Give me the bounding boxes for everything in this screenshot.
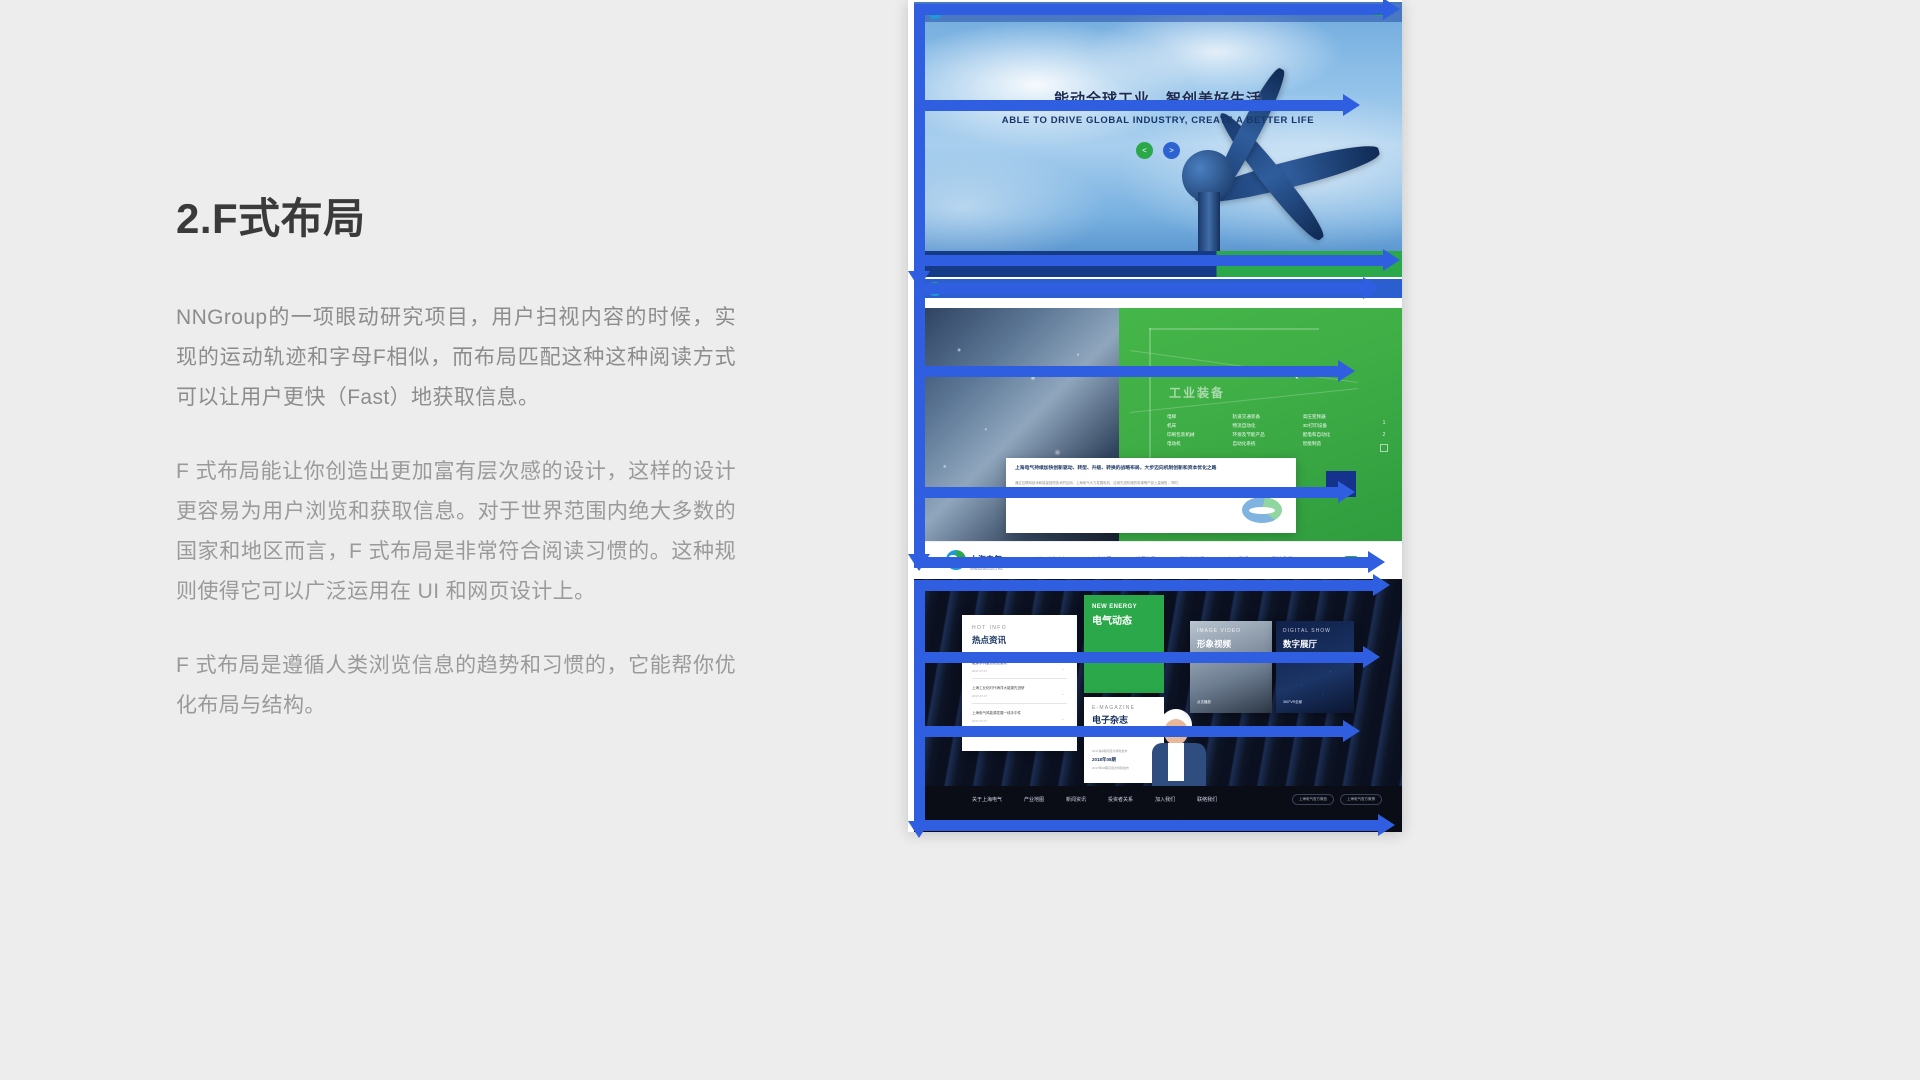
explore-arrow-button[interactable]: → xyxy=(1326,471,1356,497)
product-category-columns: 电梯 机床 印刷包装机械 电动机 轨道交通装备 物流自动化 环保及节能产品 自动… xyxy=(1167,412,1330,448)
nav-item-5[interactable]: 联络我们 xyxy=(1221,8,1243,16)
footer-lang-en[interactable]: EN xyxy=(1364,557,1370,562)
category-item[interactable]: 印刷包装机械 xyxy=(1167,430,1195,439)
news-list-item[interactable]: 上海工业化时代海洋大能源先进研 2017-07-17 → xyxy=(972,678,1067,703)
shanghai-electric-logo-icon xyxy=(946,550,966,570)
digital-show-card[interactable]: DIGITAL SHOW 数字展厅 360°VR全景 xyxy=(1276,621,1354,713)
language-badge[interactable]: 中文 xyxy=(1371,8,1388,16)
carousel-next-icon[interactable]: > xyxy=(1163,142,1180,159)
site-header: 上海电气 关于上海电气 产业地图 新闻资讯 投资者关系 加入我们 联络我们 中文 xyxy=(914,2,1402,22)
emagazine-issue: 2018年08期 xyxy=(1092,757,1156,763)
p3-footer-link-0[interactable]: 关于上海电气 xyxy=(972,796,1002,803)
news-arrow-icon[interactable]: → xyxy=(1060,716,1065,722)
category-item[interactable]: 3D打印设备 xyxy=(1303,421,1331,430)
pager-page-2[interactable]: 2 xyxy=(1383,432,1386,438)
article-paragraph-3: F 式布局是遵循人类浏览信息的趋势和习惯的，它能帮你优化布局与结构。 xyxy=(176,646,736,726)
news-list-item[interactable]: 能源学科重点院校奖项 2017-07-17 → xyxy=(972,653,1067,678)
footer-link-0[interactable]: 关于上海电气 xyxy=(930,260,957,266)
emagazine-line-1: 2017第8期高层次特辑发布 xyxy=(1092,748,1156,754)
products-footer-nav[interactable]: 关于上海电气 产业地图 新闻资讯 投资者关系 加入我们 联络我们 xyxy=(1037,556,1292,563)
image-video-card[interactable]: IMAGE VIDEO 形象视频 点击播放 xyxy=(1190,621,1272,713)
brand-watermark-icon xyxy=(1242,497,1282,523)
hot-info-label-cn: 热点资讯 xyxy=(972,634,1067,646)
p2-footer-link-0[interactable]: 关于上海电气 xyxy=(1037,556,1067,563)
section-title-cn: 工业装备 xyxy=(1169,384,1225,401)
news-footer: 关于上海电气 产业地图 新闻资讯 投资者关系 加入我们 联络我们 上海电气官方微… xyxy=(914,786,1402,832)
engineer-photo xyxy=(1150,701,1208,791)
p2-footer-link-4[interactable]: 加入我们 xyxy=(1228,556,1248,563)
nav-item-4[interactable]: 加入我们 xyxy=(1183,8,1205,16)
new-energy-label-cn: 电气动态 xyxy=(1092,612,1156,627)
new-energy-label-en: NEW ENERGY xyxy=(1092,604,1156,610)
highlight-card-title: 上海电气持续加快创新驱动、转型、升级、转换的战略布局，大步迈向机制创新和资本优化… xyxy=(1015,465,1287,473)
logo-text-cn: 上海电气 xyxy=(946,285,976,292)
carousel-controls[interactable]: < > xyxy=(914,142,1402,159)
footer-language-switch[interactable]: 中文 EN xyxy=(1343,556,1370,564)
highlight-card-body: 通过互联网技术和能量回馈技术的应用，上海电气大力发展电机、应用先进机械的电梯等产… xyxy=(1015,480,1184,492)
news-date: 2017-07-17 xyxy=(972,669,1067,673)
category-item[interactable]: 电梯 xyxy=(1167,412,1195,421)
news-title: 能源学科重点院校奖项 xyxy=(972,660,1067,666)
new-energy-body: 上海电气联合国家高速油机业务模式创新开启 xyxy=(1092,653,1156,659)
category-item[interactable]: 智能制造 xyxy=(1303,439,1331,448)
new-energy-card[interactable]: NEW ENERGY 电气动态 上海电气联合国家高速油机业务模式创新开启 xyxy=(1084,595,1164,693)
p3-footer-link-4[interactable]: 加入我们 xyxy=(1155,796,1175,803)
social-pill-weibo[interactable]: 上海电气官方微博 xyxy=(1340,794,1382,805)
news-list-item[interactable]: 上海电气风能源发展一线手中件 2017-07-17 → xyxy=(972,703,1067,728)
shanghai-electric-logo-icon xyxy=(928,5,942,19)
news-arrow-icon[interactable]: → xyxy=(1060,691,1065,697)
category-item[interactable]: 机床 xyxy=(1167,421,1195,430)
news-date: 2017-07-17 xyxy=(972,694,1067,698)
carousel-prev-icon[interactable]: < xyxy=(1136,142,1153,159)
p3-footer-link-2[interactable]: 新闻资讯 xyxy=(1066,796,1086,803)
nav-item-0[interactable]: 关于上海电气 xyxy=(1014,8,1047,16)
highlight-card: 上海电气持续加快创新驱动、转型、升级、转换的战略布局，大步迈向机制创新和资本优化… xyxy=(1006,458,1296,533)
image-video-tag[interactable]: 点击播放 xyxy=(1197,700,1211,705)
digital-show-label-cn: 数字展厅 xyxy=(1283,638,1317,650)
news-arrow-icon[interactable]: → xyxy=(1060,666,1065,672)
category-column-0: 电梯 机床 印刷包装机械 电动机 xyxy=(1167,412,1195,448)
emagazine-label-en: E-MAGAZINE xyxy=(1092,705,1156,711)
p2-footer-link-3[interactable]: 投资者关系 xyxy=(1179,556,1204,563)
p2-footer-link-2[interactable]: 新闻资讯 xyxy=(1135,556,1155,563)
products-header: 上海电气 关于上海电气 产业地图 新闻资讯 投资者关系 加入我们 联络我们 xyxy=(914,279,1402,298)
news-title: 上海电气风能源发展一线手中件 xyxy=(972,710,1067,716)
section-title-en: EFFICIENT CLEAN ENERGY EQUIPMENT xyxy=(1169,370,1338,379)
footer-link-3[interactable]: 法律声明 xyxy=(1045,260,1063,266)
hot-info-label-en: HOT INFO xyxy=(972,625,1067,631)
nav2-item-4[interactable]: 加入我们 xyxy=(1183,285,1205,293)
hero-text-block: 能动全球工业，智创美好生活 ABLE TO DRIVE GLOBAL INDUS… xyxy=(914,88,1402,126)
news-date: 2017-07-17 xyxy=(972,719,1067,723)
image-video-label-en: IMAGE VIDEO xyxy=(1197,628,1241,634)
primary-nav[interactable]: 关于上海电气 产业地图 新闻资讯 投资者关系 加入我们 联络我们 xyxy=(1014,8,1243,16)
p3-footer-link-5[interactable]: 联络我们 xyxy=(1197,796,1217,803)
home-footer-bar: 关于上海电气 400-820-1688 网站地图 法律声明 隐私政策 联系我们 xyxy=(914,251,1402,277)
footer-link-1[interactable]: 400-820-1688 xyxy=(971,260,999,266)
digital-show-label-en: DIGITAL SHOW xyxy=(1283,628,1331,634)
emagazine-line-2: 2017年08期高层次特辑发布 xyxy=(1092,765,1156,771)
news-title: 上海工业化时代海洋大能源先进研 xyxy=(972,685,1067,691)
nav-item-3[interactable]: 投资者关系 xyxy=(1139,8,1167,16)
footer-link-5[interactable]: 联系我们 xyxy=(1109,260,1127,266)
pager-page-1[interactable]: 1 xyxy=(1383,420,1386,426)
category-item[interactable]: 轨道交通装备 xyxy=(1233,412,1265,421)
copyright-text: 版权所有 上海电气集团股份有限公司 沪ICP备05045532号 沪公网安备 3… xyxy=(914,819,1402,824)
p2-footer-link-1[interactable]: 产业地图 xyxy=(1091,556,1111,563)
category-item[interactable]: 环保及节能产品 xyxy=(1233,430,1265,439)
wind-turbine-illustration xyxy=(1152,42,1402,277)
category-item[interactable]: 高压变频器 xyxy=(1303,412,1331,421)
mockup-page-home: 上海电气 关于上海电气 产业地图 新闻资讯 投资者关系 加入我们 联络我们 中文… xyxy=(914,2,1402,277)
article-paragraph-2: F 式布局能让你创造出更加富有层次感的设计，这样的设计更容易为用户浏览和获取信息… xyxy=(176,452,736,612)
footer-logo-en: SHANGHAI ELECTRIC xyxy=(970,567,1003,571)
nav2-item-2[interactable]: 新闻资讯 xyxy=(1101,285,1123,293)
page-title: 2.F式布局 xyxy=(176,196,736,242)
slide-pager[interactable]: 1 2 xyxy=(1380,420,1388,452)
category-item[interactable]: 配电和自动化 xyxy=(1303,430,1331,439)
category-item[interactable]: 自动化系统 xyxy=(1233,439,1265,448)
category-item[interactable]: 电动机 xyxy=(1167,439,1195,448)
nav2-item-5[interactable]: 联络我们 xyxy=(1221,285,1243,293)
category-column-1: 轨道交通装备 物流自动化 环保及节能产品 自动化系统 xyxy=(1233,412,1265,448)
shanghai-electric-logo-icon xyxy=(928,282,942,296)
image-video-label-cn: 形象视频 xyxy=(1197,638,1231,650)
footer-link-4[interactable]: 隐私政策 xyxy=(1077,260,1095,266)
site-logo[interactable]: 上海电气 xyxy=(928,5,976,19)
social-pills[interactable]: 上海电气官方微信 上海电气官方微博 xyxy=(1292,794,1382,805)
footer-link-2[interactable]: 网站地图 xyxy=(1013,260,1031,266)
hero-headline-en: ABLE TO DRIVE GLOBAL INDUSTRY, CREATE A … xyxy=(914,115,1402,126)
footer-logo-cn: 上海电气 xyxy=(970,555,1002,564)
site-logo-secondary[interactable]: 上海电气 xyxy=(928,282,976,296)
hot-info-card: HOT INFO 热点资讯 能源学科重点院校奖项 2017-07-17 → 上海… xyxy=(962,615,1077,751)
p2-footer-link-5[interactable]: 联络我们 xyxy=(1272,556,1292,563)
social-pill-wechat[interactable]: 上海电气官方微信 xyxy=(1292,794,1334,805)
article-column: 2.F式布局 NNGroup的一项眼动研究项目，用户扫视内容的时候，实现的运动轨… xyxy=(176,196,736,760)
website-mockup: 上海电气 关于上海电气 产业地图 新闻资讯 投资者关系 加入我们 联络我们 中文… xyxy=(908,0,1408,840)
emagazine-label-cn: 电子杂志 xyxy=(1092,713,1156,726)
logo-text-cn: 上海电气 xyxy=(946,8,976,15)
nav-item-2[interactable]: 新闻资讯 xyxy=(1101,8,1123,16)
footer-lang-cn[interactable]: 中文 xyxy=(1343,556,1359,564)
hero-headline-cn: 能动全球工业，智创美好生活 xyxy=(914,88,1402,109)
nav-item-1[interactable]: 产业地图 xyxy=(1063,8,1085,16)
p3-footer-link-1[interactable]: 产业地图 xyxy=(1024,796,1044,803)
nav2-item-3[interactable]: 投资者关系 xyxy=(1139,285,1167,293)
category-item[interactable]: 物流自动化 xyxy=(1233,421,1265,430)
category-column-2: 高压变频器 3D打印设备 配电和自动化 智能制造 xyxy=(1303,412,1331,448)
header-utilities: 中文 xyxy=(1371,8,1388,16)
primary-nav-secondary[interactable]: 关于上海电气 产业地图 新闻资讯 投资者关系 加入我们 联络我们 xyxy=(1014,285,1243,293)
mockup-page-news: HOT INFO 热点资讯 能源学科重点院校奖项 2017-07-17 → 上海… xyxy=(914,579,1402,832)
mockup-page-products: 上海电气 关于上海电气 产业地图 新闻资讯 投资者关系 加入我们 联络我们 EF… xyxy=(914,279,1402,577)
pager-box-icon[interactable] xyxy=(1380,444,1388,452)
nav2-item-0[interactable]: 关于上海电气 xyxy=(1014,285,1047,293)
p3-footer-link-3[interactable]: 投资者关系 xyxy=(1108,796,1133,803)
products-footer: 上海电气 SHANGHAI ELECTRIC 关于上海电气 产业地图 新闻资讯 … xyxy=(914,541,1402,577)
digital-show-tag[interactable]: 360°VR全景 xyxy=(1283,700,1302,705)
nav2-item-1[interactable]: 产业地图 xyxy=(1063,285,1085,293)
article-paragraph-1: NNGroup的一项眼动研究项目，用户扫视内容的时候，实现的运动轨迹和字母F相似… xyxy=(176,298,736,418)
